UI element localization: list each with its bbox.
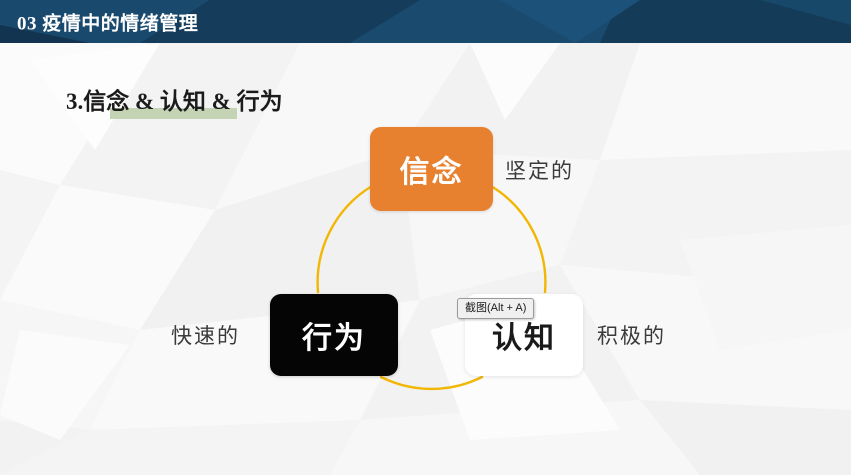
header-title: 03 疫情中的情绪管理: [17, 8, 198, 35]
node-belief-label: 信念: [400, 147, 464, 191]
subtitle-text: 3.信念 & 认知 & 行为: [66, 82, 283, 116]
node-behavior[interactable]: 行为: [270, 294, 398, 376]
section-subtitle: 3.信念 & 认知 & 行为: [66, 82, 283, 116]
label-fast: 快速的: [171, 320, 240, 350]
slide-canvas: 03 疫情中的情绪管理 3.信念 & 认知 & 行为 信念 行为 认知 坚定的 …: [0, 0, 851, 475]
node-cognition-label: 认知: [492, 313, 556, 357]
screenshot-tooltip[interactable]: 截图(Alt + A): [457, 298, 534, 319]
label-firm: 坚定的: [505, 155, 574, 185]
slide-header-bar: 03 疫情中的情绪管理: [0, 0, 851, 43]
node-behavior-label: 行为: [302, 313, 366, 357]
background-polygon-pattern: [0, 0, 851, 475]
node-belief[interactable]: 信念: [370, 127, 493, 211]
label-positive: 积极的: [597, 320, 666, 350]
